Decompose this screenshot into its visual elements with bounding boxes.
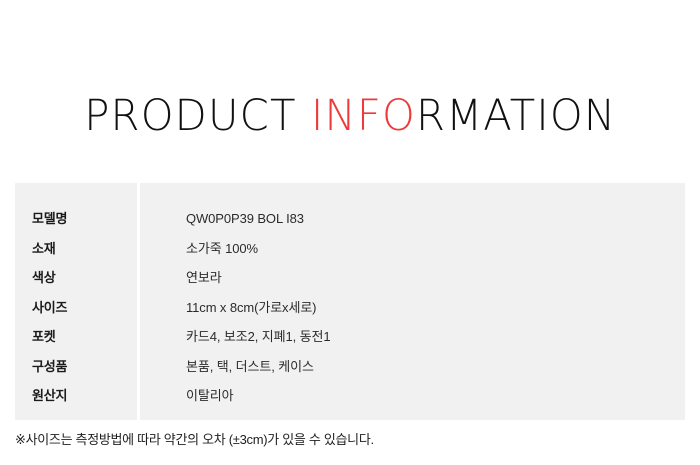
spec-value-column: QW0P0P39 BOL I83 소가죽 100% 연보라 11cm x 8cm… [140,183,685,420]
spec-row-value: 연보라 [140,263,685,293]
spec-label-column: 모델명 소재 색상 사이즈 포켓 구성품 원산지 [15,183,137,420]
spec-row-label: 원산지 [15,381,137,411]
spec-row-label: 모델명 [15,204,137,234]
page-title-container: PRODUCT INFORMATION [0,66,700,167]
page-title-part-1: PRODUCT [84,91,311,141]
page-title-part-2-accent: INFO [311,91,416,141]
spec-row-label: 사이즈 [15,293,137,323]
spec-row-value: 이탈리아 [140,381,685,411]
spec-row-value: 11cm x 8cm(가로x세로) [140,293,685,323]
spec-row-label: 색상 [15,263,137,293]
page-title: PRODUCT INFORMATION [84,95,616,138]
spec-row-value: 카드4, 보조2, 지폐1, 동전1 [140,322,685,352]
spec-row-value: QW0P0P39 BOL I83 [140,204,685,234]
spec-row-label: 구성품 [15,352,137,382]
spec-row-value: 본품, 택, 더스트, 케이스 [140,352,685,382]
product-spec-table: 모델명 소재 색상 사이즈 포켓 구성품 원산지 QW0P0P39 BOL I8… [15,183,685,420]
spec-row-value: 소가죽 100% [140,234,685,264]
spec-row-label: 소재 [15,234,137,264]
page-title-part-3: RMATION [416,91,616,141]
size-disclaimer-note: ※사이즈는 측정방법에 따라 약간의 오차 (±3cm)가 있을 수 있습니다. [15,429,374,448]
spec-row-label: 포켓 [15,322,137,352]
